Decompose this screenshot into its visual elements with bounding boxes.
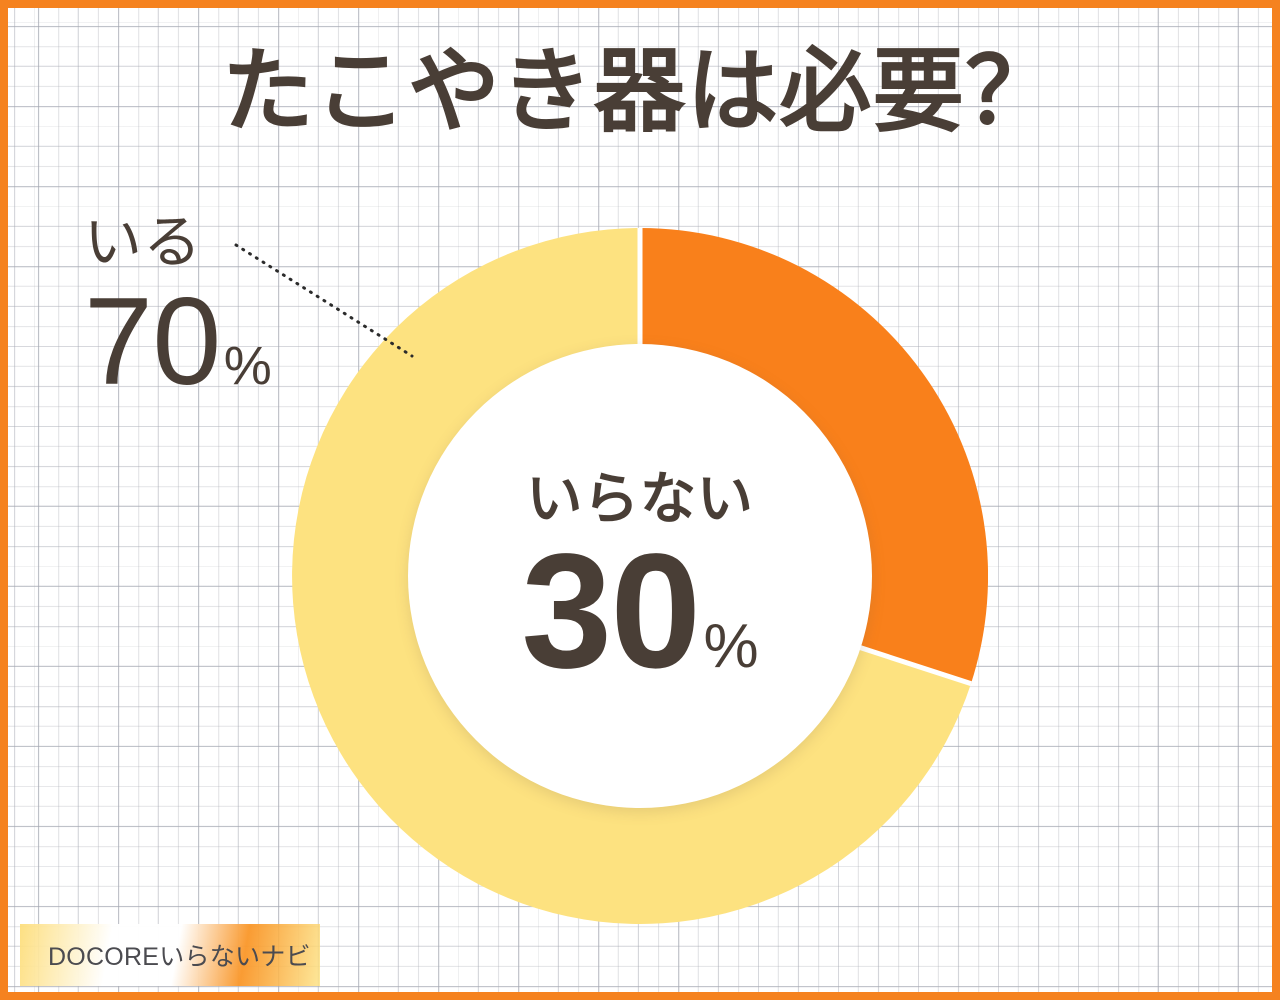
callout-percentage-unit: %	[224, 339, 272, 393]
callout-value-row: 70 %	[84, 290, 272, 395]
brand-logo[interactable]: DOCOREいらないナビ	[20, 924, 320, 986]
page-title: たこやき器は必要？	[0, 44, 1280, 141]
infographic-canvas: たこやき器は必要？ いらない 30 % いる 70 %	[0, 0, 1280, 1000]
callout-category-label: いる	[84, 214, 272, 272]
donut-center-hole	[408, 344, 872, 808]
callout-iru: いる 70 %	[84, 214, 272, 395]
callout-percentage-value: 70	[84, 290, 221, 395]
brand-logo-text: DOCOREいらないナビ	[48, 937, 311, 973]
